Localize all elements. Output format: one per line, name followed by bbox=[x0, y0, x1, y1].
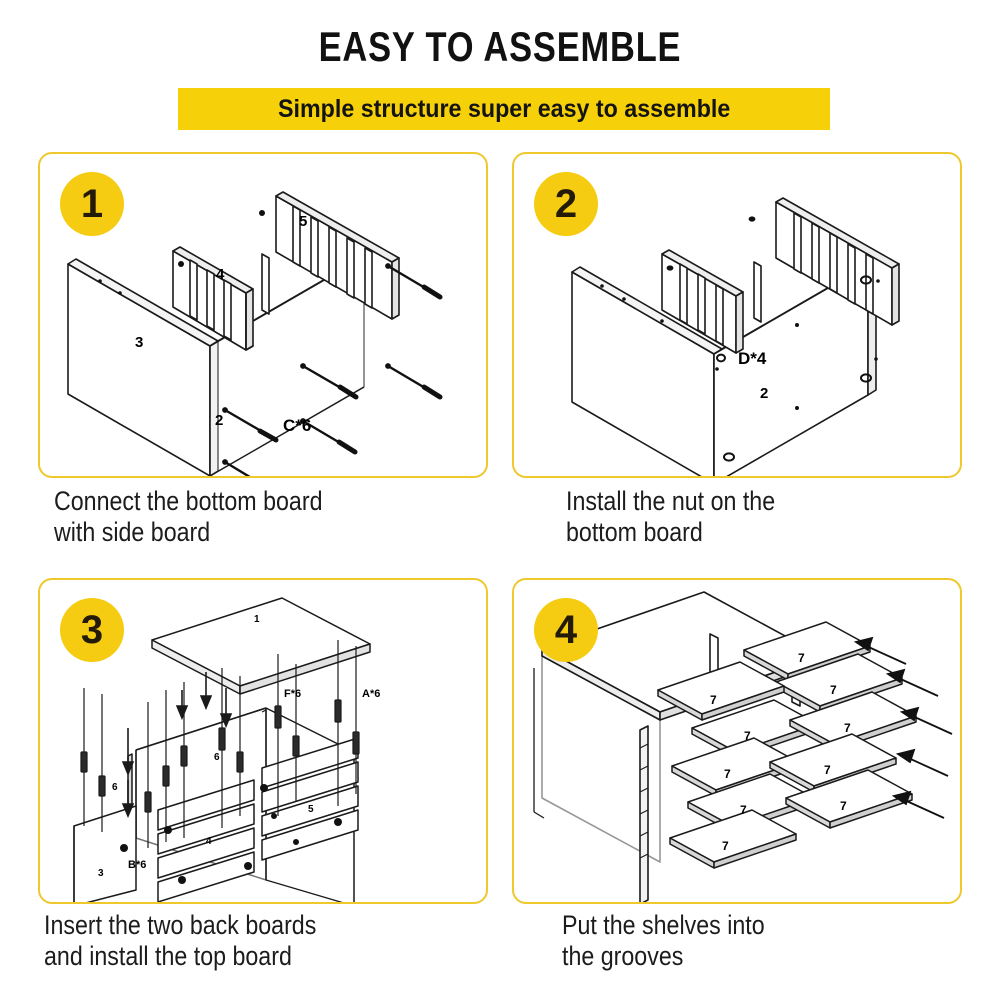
step-badge-3: 3 bbox=[60, 598, 124, 662]
part-label: 6 bbox=[112, 782, 118, 793]
shelf-label: 7 bbox=[722, 839, 729, 853]
arrow-down bbox=[123, 728, 133, 774]
step-badge-2: 2 bbox=[534, 172, 598, 236]
step-caption-3: Insert the two back boards and install t… bbox=[44, 910, 508, 972]
part-label: 6 bbox=[214, 752, 220, 763]
part-label: 2 bbox=[760, 385, 768, 402]
step-panel-2: D*4 2 2 bbox=[512, 152, 962, 478]
part-label: 5 bbox=[299, 213, 307, 230]
part-label: 3 bbox=[98, 868, 104, 879]
dowel bbox=[81, 688, 87, 826]
part-label: 3 bbox=[135, 334, 143, 351]
part-label: 5 bbox=[308, 804, 314, 815]
step-caption-1: Connect the bottom board with side board bbox=[54, 486, 501, 548]
step-panel-1: 3 2 4 5 C*6 1 bbox=[38, 152, 488, 478]
step-panel-3: 1 6 6 F*6 A*6 B*6 5 4 3 3 bbox=[38, 578, 488, 904]
shelf-label: 7 bbox=[824, 763, 831, 777]
shelf-label: 7 bbox=[744, 729, 751, 743]
hardware-label: B*6 bbox=[128, 859, 146, 871]
arrow-down bbox=[177, 690, 187, 718]
step-badge-1: 1 bbox=[60, 172, 124, 236]
shelf bbox=[670, 810, 796, 868]
hardware-label: C*6 bbox=[283, 416, 311, 435]
subtitle-text: Simple structure super easy to assemble bbox=[278, 95, 730, 124]
arrow-insert bbox=[894, 792, 944, 818]
part-label: 1 bbox=[254, 614, 260, 625]
shelf-label: 7 bbox=[710, 693, 717, 707]
hardware-label: F*6 bbox=[284, 688, 301, 700]
subtitle-banner: Simple structure super easy to assemble bbox=[178, 88, 830, 130]
shelf-label: 7 bbox=[740, 803, 747, 817]
step-caption-2: Install the nut on the bottom board bbox=[566, 486, 1000, 548]
part-label: 2 bbox=[215, 412, 223, 429]
page-title: EASY TO ASSEMBLE bbox=[90, 26, 910, 68]
part-label: 4 bbox=[216, 266, 225, 283]
shelf-label: 7 bbox=[724, 767, 731, 781]
part-label: 4 bbox=[206, 836, 212, 847]
step-caption-4: Put the shelves into the grooves bbox=[562, 910, 1000, 972]
step-panel-4: 7 7 7 7 7 7 7 7 7 7 4 bbox=[512, 578, 962, 904]
shelf-label: 7 bbox=[830, 683, 837, 697]
shelf-label: 7 bbox=[840, 799, 847, 813]
dowel bbox=[99, 694, 105, 832]
step-badge-4: 4 bbox=[534, 598, 598, 662]
arrow-insert bbox=[898, 750, 948, 776]
screw bbox=[386, 364, 440, 397]
hardware-label: D*4 bbox=[738, 349, 767, 368]
shelf-label: 7 bbox=[844, 721, 851, 735]
hardware-label: A*6 bbox=[362, 688, 380, 700]
shelf-label: 7 bbox=[798, 651, 805, 665]
